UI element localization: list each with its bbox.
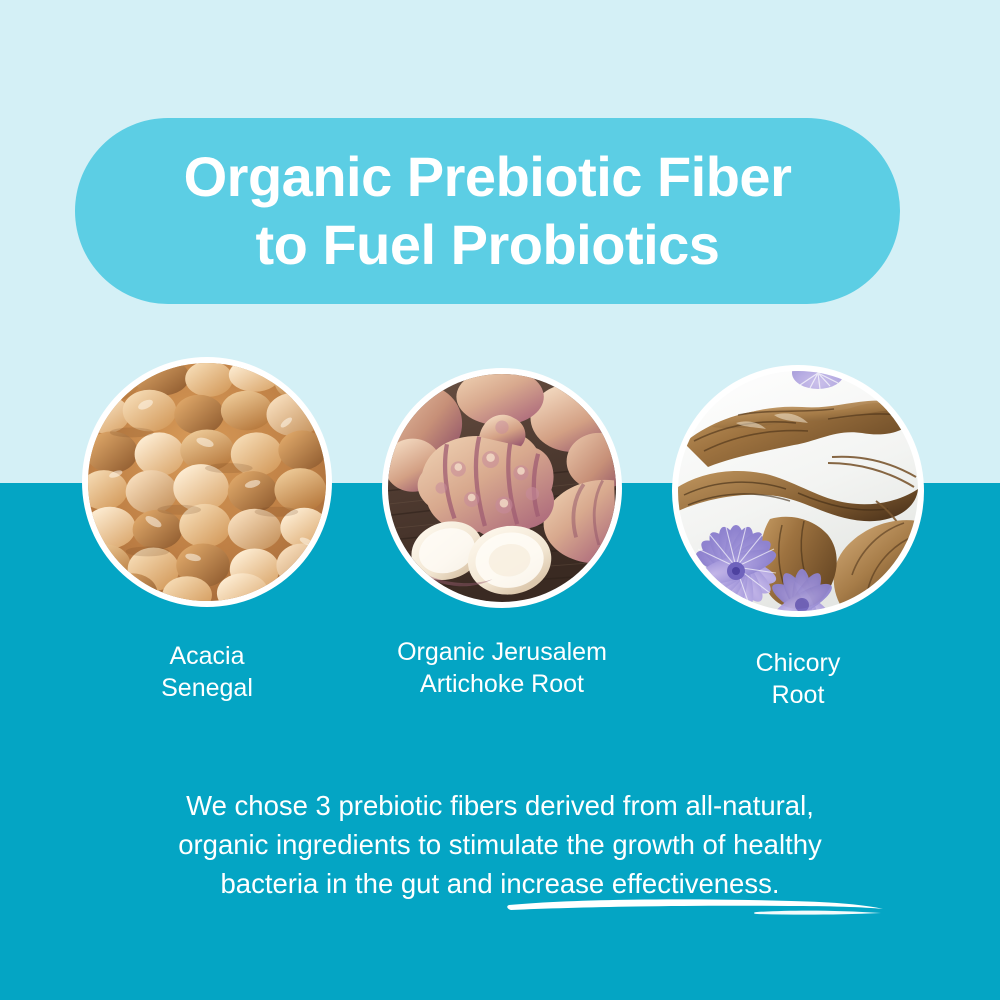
ingredient-item: Organic Jerusalem Artichoke Root [382, 357, 622, 700]
header-pill: Organic Prebiotic Fiber to Fuel Probioti… [75, 118, 900, 304]
ingredient-label: Acacia Senegal [82, 640, 332, 704]
ingredient-photo-frame [672, 365, 924, 617]
ingredient-list: Acacia Senegal [0, 357, 1000, 717]
ingredient-label: Chicory Root [672, 647, 924, 711]
prebiotic-fiber-infographic: Organic Prebiotic Fiber to Fuel Probioti… [0, 0, 1000, 1000]
description-paragraph: We chose 3 prebiotic fibers derived from… [60, 786, 940, 903]
ingredient-item: Acacia Senegal [82, 357, 332, 704]
ingredient-photo-frame [82, 357, 332, 607]
jerusalem-artichoke-root-photo [388, 374, 616, 602]
ingredient-label: Organic Jerusalem Artichoke Root [382, 636, 622, 700]
brush-stroke-underline [505, 896, 885, 922]
ingredient-photo-frame [382, 368, 622, 608]
chicory-root-photo [678, 371, 918, 611]
ingredient-item: Chicory Root [672, 357, 924, 711]
acacia-senegal-resin-crystals-photo [88, 363, 326, 601]
page-title: Organic Prebiotic Fiber to Fuel Probioti… [154, 143, 822, 280]
